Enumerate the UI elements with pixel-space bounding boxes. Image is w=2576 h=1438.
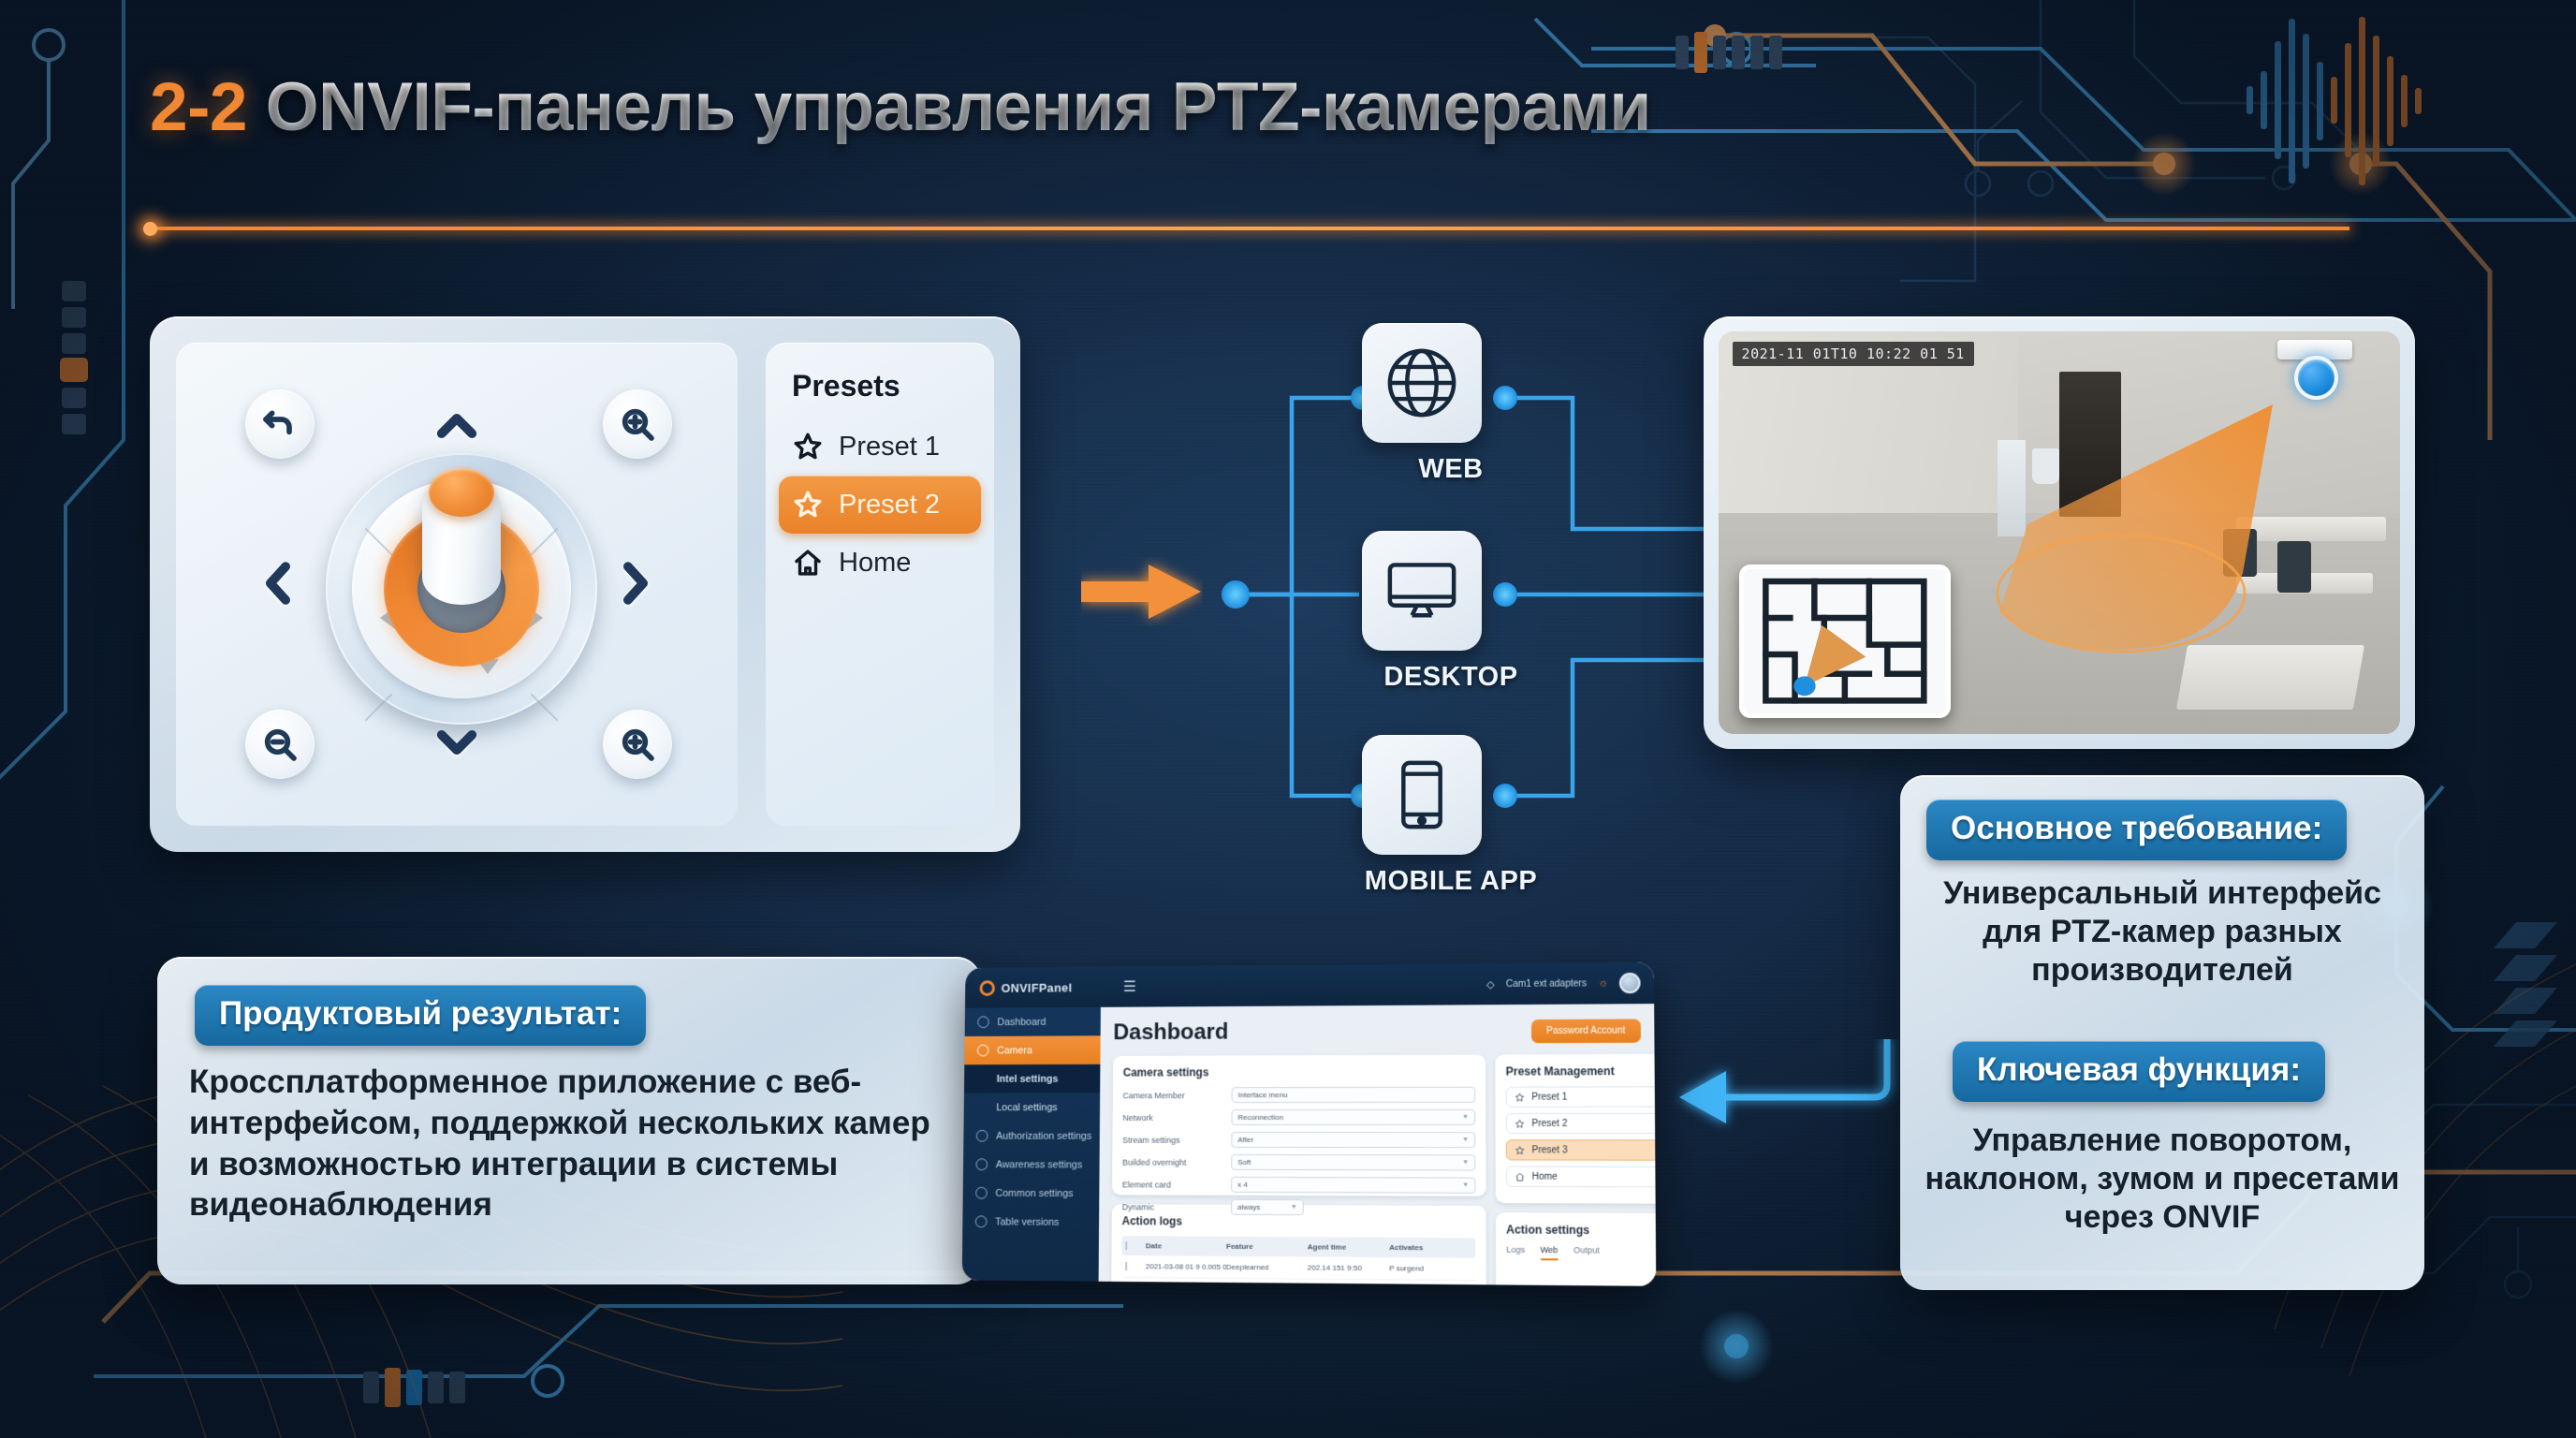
sidebar-item-authorization-settings[interactable]: Authorization settings	[963, 1122, 1100, 1151]
requirement-card: Основное требование: Универсальный интер…	[1900, 775, 2424, 1290]
preset-item-1[interactable]: Preset 1	[779, 418, 981, 476]
product-result-badge: Продуктовый результат:	[195, 985, 646, 1046]
camera-feed-card: 2021-11 01T10 10:22 01 51	[1704, 316, 2415, 749]
platform-label-mobile: MOBILE APP	[1343, 866, 1559, 897]
camera-icon	[977, 1045, 989, 1057]
pan-right-button[interactable]	[605, 552, 666, 614]
column-header: Agent time	[1308, 1242, 1390, 1252]
star-icon	[1515, 1118, 1525, 1128]
sidebar-item-label: Awareness settings	[996, 1159, 1083, 1170]
field-label: Builded overnight	[1122, 1157, 1231, 1167]
shield-icon	[976, 1130, 988, 1142]
dashboard-sidebar: Dashboard Camera Intel settings Local se…	[962, 1007, 1101, 1282]
stream-select[interactable]: After▼	[1231, 1132, 1475, 1148]
gear-icon	[975, 1187, 988, 1199]
camera-timestamp: 2021-11 01T10 10:22 01 51	[1733, 342, 1974, 366]
dashboard-body: Camera settings Camera Member Interface …	[1111, 1054, 1643, 1286]
requirement-text: Универсальный интерфейс для PTZ-камер ра…	[1919, 874, 2406, 989]
table-header-row: Date Feature Agent time Activates	[1121, 1236, 1475, 1258]
platform-label-desktop: DESKTOP	[1343, 662, 1559, 693]
star-icon	[1515, 1092, 1525, 1102]
sidebar-item-label: Dashboard	[997, 1017, 1046, 1028]
form-row: Builded overnight Soft▼	[1122, 1154, 1475, 1171]
chevron-right-icon	[611, 559, 660, 608]
sidebar-subitem-local-settings[interactable]: Local settings	[964, 1093, 1101, 1122]
chevron-down-icon: ▼	[1462, 1114, 1469, 1121]
preset-item-2[interactable]: Preset 2	[779, 476, 981, 534]
preset-item-home[interactable]: Home	[779, 534, 981, 592]
camera-settings-panel: Camera settings Camera Member Interface …	[1112, 1054, 1486, 1196]
hamburger-menu-icon[interactable]: ☰	[1123, 977, 1136, 996]
dashboard-header: Dashboard Password Account	[1113, 1017, 1641, 1046]
dashboard-logo-text: ONVIFPanel	[1002, 980, 1073, 994]
presets-title: Presets	[792, 369, 900, 404]
key-function-text: Управление поворотом, наклоном, зумом и …	[1919, 1122, 2406, 1236]
product-badge-wrap: Продуктовый результат:	[195, 985, 646, 1046]
field-label: Network	[1122, 1113, 1231, 1123]
slide-number: 2-2	[150, 69, 247, 145]
title-text: ONVIF-панель управления PTZ-камерами	[247, 69, 1651, 145]
sidebar-item-label: Camera	[997, 1045, 1032, 1056]
pan-left-button[interactable]	[247, 552, 309, 614]
camera-member-input[interactable]: Interface menu	[1232, 1087, 1476, 1103]
diamond-icon[interactable]: ◇	[1486, 978, 1495, 990]
chevron-up-icon	[432, 402, 481, 450]
zoom-in-icon	[619, 405, 656, 443]
row-checkbox[interactable]	[1125, 1262, 1127, 1270]
form-row: Stream settings After▼	[1122, 1132, 1475, 1148]
sidebar-item-label: Table versions	[995, 1216, 1059, 1227]
field-label: Element card	[1122, 1180, 1231, 1189]
pan-up-button[interactable]	[426, 395, 488, 457]
dash-preset-label: Home	[1532, 1171, 1558, 1181]
chevron-left-icon	[254, 559, 302, 608]
bell-icon	[975, 1158, 988, 1170]
platform-mobile-button[interactable]	[1362, 735, 1482, 855]
floorplan-minimap[interactable]	[1739, 565, 1951, 717]
home-icon	[792, 547, 824, 579]
cell-feature: Deeplearned	[1226, 1263, 1308, 1272]
dash-preset-item-3[interactable]: Preset 3	[1506, 1139, 1656, 1161]
field-value: always	[1237, 1203, 1260, 1211]
phone-icon	[1383, 756, 1461, 834]
dash-preset-label: Preset 1	[1531, 1092, 1567, 1102]
reset-button[interactable]	[245, 389, 315, 459]
preset-item-label: Preset 2	[839, 490, 940, 521]
chevron-down-icon: ▼	[1462, 1159, 1469, 1166]
zoom-out-icon	[261, 726, 299, 763]
dash-preset-label: Preset 2	[1531, 1118, 1567, 1128]
dash-preset-label: Preset 3	[1531, 1145, 1567, 1155]
platform-desktop-button[interactable]	[1362, 531, 1482, 651]
sidebar-item-dashboard[interactable]: Dashboard	[965, 1007, 1101, 1036]
field-label: Dynamic	[1122, 1202, 1231, 1211]
preset-management-panel: Preset Management Preset 1 Preset 2 Pres…	[1495, 1054, 1656, 1204]
reset-rotate-icon	[261, 405, 299, 443]
dash-preset-item-home[interactable]: Home	[1506, 1167, 1656, 1188]
action-settings-tabs: Logs Web Output	[1506, 1245, 1656, 1261]
dash-preset-item-1[interactable]: Preset 1	[1506, 1086, 1657, 1108]
ptz-control-card: Presets Preset 1 Preset 2 Home	[150, 316, 1020, 852]
action-settings-title: Action settings	[1506, 1223, 1656, 1237]
zoom-in-button-top[interactable]	[603, 389, 672, 459]
preset-item-label: Preset 1	[839, 432, 940, 462]
sidebar-item-table-versions[interactable]: Table versions	[962, 1207, 1099, 1236]
globe-icon	[1383, 344, 1461, 422]
logo-ring-icon	[979, 980, 995, 996]
field-label: Stream settings	[1122, 1135, 1231, 1144]
sidebar-item-common-settings[interactable]: Сommon settings	[963, 1179, 1100, 1208]
dynamic-select[interactable]: always▼	[1231, 1199, 1304, 1215]
dashboard-topbar-right: ◇ Cam1 ext adapters ☼	[1486, 973, 1641, 994]
action-logs-table: Date Feature Agent time Activates 2021-0…	[1121, 1236, 1476, 1286]
dashboard-primary-button[interactable]: Password Account	[1531, 1019, 1641, 1043]
table-row[interactable]: 2021-03-08 01 9 0.005 005 Deeplearned 20…	[1121, 1255, 1475, 1281]
key-function-badge: Ключевая функция:	[1953, 1041, 2325, 1102]
star-icon	[792, 489, 824, 521]
dashboard-main: Dashboard Password Account Camera settin…	[1099, 1004, 1657, 1286]
preset-item-label: Home	[839, 548, 911, 579]
dashboard-user-label: Cam1 ext adapters	[1506, 978, 1587, 990]
cell-agent-time: 202.14 151 9:50	[1308, 1264, 1390, 1273]
title-underline	[150, 227, 2349, 230]
dashboard-logo[interactable]: ONVIFPanel	[979, 979, 1072, 995]
presets-list: Preset 1 Preset 2 Home	[779, 418, 981, 592]
dashboard-topbar: ONVIFPanel ☰ ◇ Cam1 ext adapters ☼	[965, 962, 1654, 1008]
zoom-in-icon	[619, 726, 656, 763]
action-settings-panel: Action settings Logs Web Output	[1496, 1212, 1656, 1286]
builded-select[interactable]: Soft▼	[1231, 1154, 1475, 1171]
avatar[interactable]	[1619, 973, 1641, 993]
column-header: Date	[1146, 1241, 1226, 1251]
zoom-out-button[interactable]	[245, 710, 315, 779]
zoom-in-button-bottom[interactable]	[603, 710, 672, 779]
page-title: 2-2 ONVIF-панель управления PTZ-камерами	[150, 73, 1651, 141]
product-result-card: Продуктовый результат: Кроссплатформенно…	[157, 957, 981, 1284]
platform-label-web: WEB	[1343, 454, 1559, 485]
field-value: Soft	[1237, 1158, 1251, 1167]
dashboard-mockup[interactable]: ONVIFPanel ☰ ◇ Cam1 ext adapters ☼ Dashb…	[962, 962, 1657, 1286]
sidebar-subitem-intel-settings[interactable]: Intel settings	[964, 1064, 1100, 1093]
tab-output[interactable]: Output	[1573, 1245, 1600, 1261]
floorplan-icon	[1744, 569, 1946, 712]
home-icon	[1515, 1171, 1525, 1181]
chevron-down-icon: ▼	[1462, 1182, 1469, 1189]
sidebar-subitem-label: Local settings	[996, 1102, 1057, 1113]
key-function-badge-wrap: Ключевая функция:	[1953, 1041, 2325, 1102]
select-all-checkbox[interactable]	[1125, 1241, 1127, 1250]
network-select[interactable]: Reconnection▼	[1231, 1109, 1475, 1125]
form-row: Element card x 4▼	[1122, 1176, 1476, 1193]
joystick-cap[interactable]	[429, 468, 494, 517]
sidebar-item-camera[interactable]: Camera	[964, 1035, 1100, 1064]
sidebar-item-label: Сommon settings	[995, 1187, 1073, 1198]
sidebar-item-label: Authorization settings	[996, 1130, 1091, 1141]
field-value: Reconnection	[1237, 1113, 1283, 1122]
field-value: After	[1237, 1136, 1253, 1144]
dashboard-icon	[977, 1016, 989, 1028]
preset-management-title: Preset Management	[1506, 1064, 1657, 1078]
notification-bell-icon[interactable]: ☼	[1598, 977, 1607, 989]
chevron-down-icon: ▼	[1462, 1137, 1469, 1143]
column-header: Activates	[1389, 1243, 1471, 1253]
column-header: Feature	[1226, 1242, 1308, 1252]
star-icon	[792, 431, 824, 462]
presets-panel: Presets Preset 1 Preset 2 Home	[766, 343, 994, 826]
table-icon	[975, 1215, 988, 1227]
joystick[interactable]	[326, 453, 597, 725]
ptz-joystick-panel	[176, 343, 738, 826]
camera-feed-view[interactable]: 2021-11 01T10 10:22 01 51	[1719, 331, 2400, 734]
dashboard-page-title: Dashboard	[1113, 1020, 1228, 1046]
tab-web[interactable]: Web	[1541, 1245, 1559, 1260]
form-row: Camera Member Interface menu	[1123, 1087, 1476, 1104]
chevron-down-icon	[432, 718, 481, 767]
requirement-badge-wrap: Основное требование:	[1926, 800, 2347, 860]
dash-preset-item-2[interactable]: Preset 2	[1506, 1113, 1656, 1134]
flow-arrow-blue	[1666, 1039, 1900, 1152]
cell-activates: P surgend	[1389, 1264, 1471, 1273]
sidebar-subitem-label: Intel settings	[997, 1073, 1059, 1084]
form-row: Network Reconnection▼	[1122, 1109, 1475, 1125]
action-logs-panel: Action logs Date Feature Agent time Acti…	[1111, 1204, 1486, 1286]
platform-web-button[interactable]	[1362, 323, 1482, 443]
field-label: Camera Member	[1123, 1091, 1232, 1100]
sidebar-item-awareness-settings[interactable]: Awareness settings	[963, 1150, 1100, 1179]
star-icon	[1515, 1145, 1525, 1155]
requirement-badge: Основное требование:	[1926, 800, 2347, 860]
cell-date: 2021-03-08 01 9 0.005 005	[1146, 1262, 1226, 1271]
monitor-icon	[1383, 551, 1461, 630]
camera-settings-title: Camera settings	[1123, 1065, 1475, 1079]
action-logs-title: Action logs	[1122, 1214, 1476, 1229]
field-value: x 4	[1237, 1181, 1248, 1189]
product-result-text: Кроссплатформенное приложение с веб-инте…	[189, 1062, 957, 1225]
element-select[interactable]: x 4▼	[1231, 1177, 1475, 1194]
tab-logs[interactable]: Logs	[1506, 1245, 1525, 1260]
field-value: Interface menu	[1238, 1091, 1288, 1099]
chevron-down-icon: ▼	[1291, 1204, 1297, 1211]
